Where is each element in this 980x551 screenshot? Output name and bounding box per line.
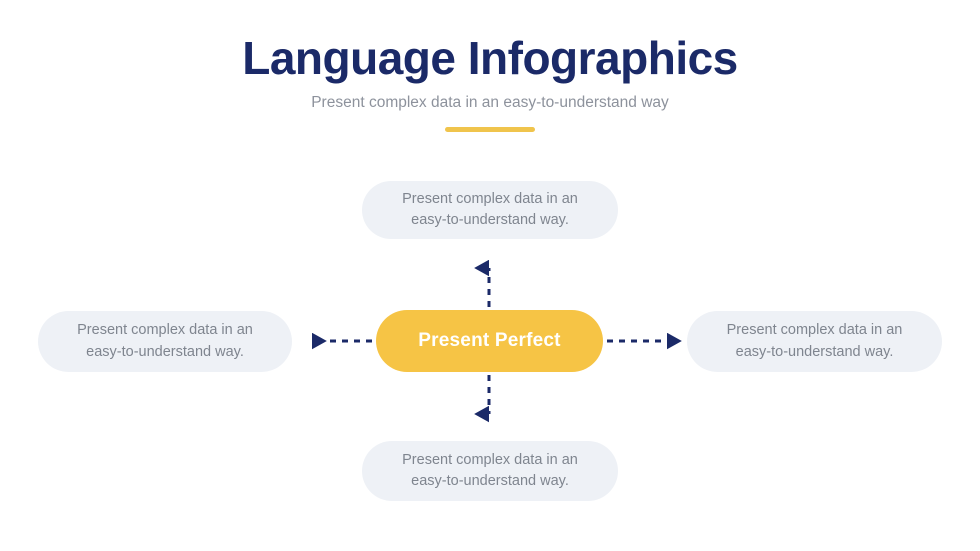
node-top-text: Present complex data in an easy-to-under… (402, 189, 578, 231)
node-left-line1: Present complex data in an (77, 322, 253, 338)
node-right[interactable]: Present complex data in an easy-to-under… (687, 311, 942, 372)
node-bottom[interactable]: Present complex data in an easy-to-under… (362, 441, 618, 501)
hub-and-spoke-diagram: Present complex data in an easy-to-under… (0, 0, 980, 551)
center-node-label: Present Perfect (418, 330, 560, 352)
node-top-line1: Present complex data in an (402, 191, 578, 207)
node-top-line2: easy-to-understand way. (411, 212, 569, 228)
infographic-slide: Language Infographics Present complex da… (0, 0, 980, 551)
node-right-line2: easy-to-understand way. (736, 344, 894, 360)
node-left-text: Present complex data in an easy-to-under… (77, 320, 253, 362)
node-left-line2: easy-to-understand way. (86, 344, 244, 360)
node-left[interactable]: Present complex data in an easy-to-under… (38, 311, 292, 372)
node-bottom-text: Present complex data in an easy-to-under… (402, 450, 578, 492)
node-bottom-line1: Present complex data in an (402, 452, 578, 468)
node-top[interactable]: Present complex data in an easy-to-under… (362, 181, 618, 239)
node-right-text: Present complex data in an easy-to-under… (727, 320, 903, 362)
center-node[interactable]: Present Perfect (376, 310, 603, 372)
node-bottom-line2: easy-to-understand way. (411, 473, 569, 489)
node-right-line1: Present complex data in an (727, 322, 903, 338)
